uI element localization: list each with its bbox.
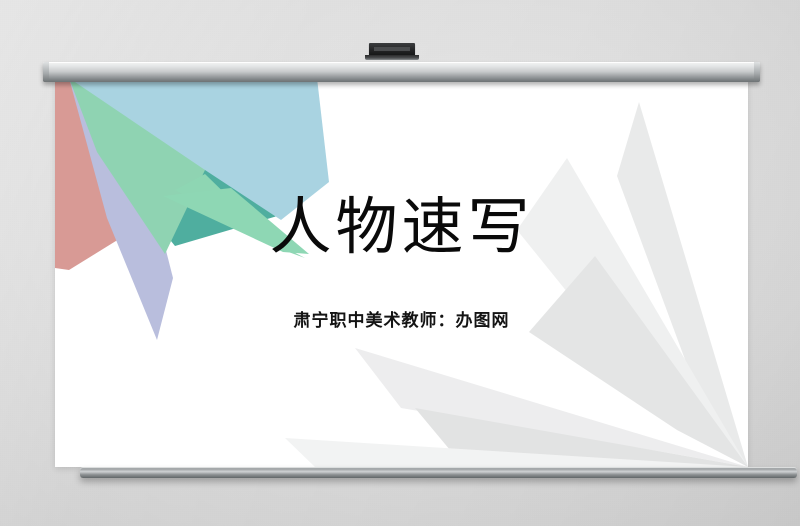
screen-top-casing	[43, 62, 760, 82]
slide-title: 人物速写	[55, 196, 748, 258]
bracket-slot	[374, 47, 410, 51]
projector-room-scene: 人物速写 肃宁职中美术教师：办图网	[0, 0, 800, 526]
projector-screen: 人物速写 肃宁职中美术教师：办图网	[43, 62, 760, 482]
slide-decoration-layer	[55, 78, 748, 467]
screen-bottom-weight-bar	[80, 467, 797, 478]
wall-mount-bracket-icon	[365, 43, 419, 63]
bracket-foot	[365, 55, 419, 60]
slide-subtitle: 肃宁职中美术教师：办图网	[55, 306, 748, 331]
bottom-right-gray-fan	[285, 102, 748, 467]
casing-end-cap-left	[43, 62, 49, 82]
casing-end-cap-right	[754, 62, 760, 82]
slide-surface: 人物速写 肃宁职中美术教师：办图网	[55, 78, 748, 467]
